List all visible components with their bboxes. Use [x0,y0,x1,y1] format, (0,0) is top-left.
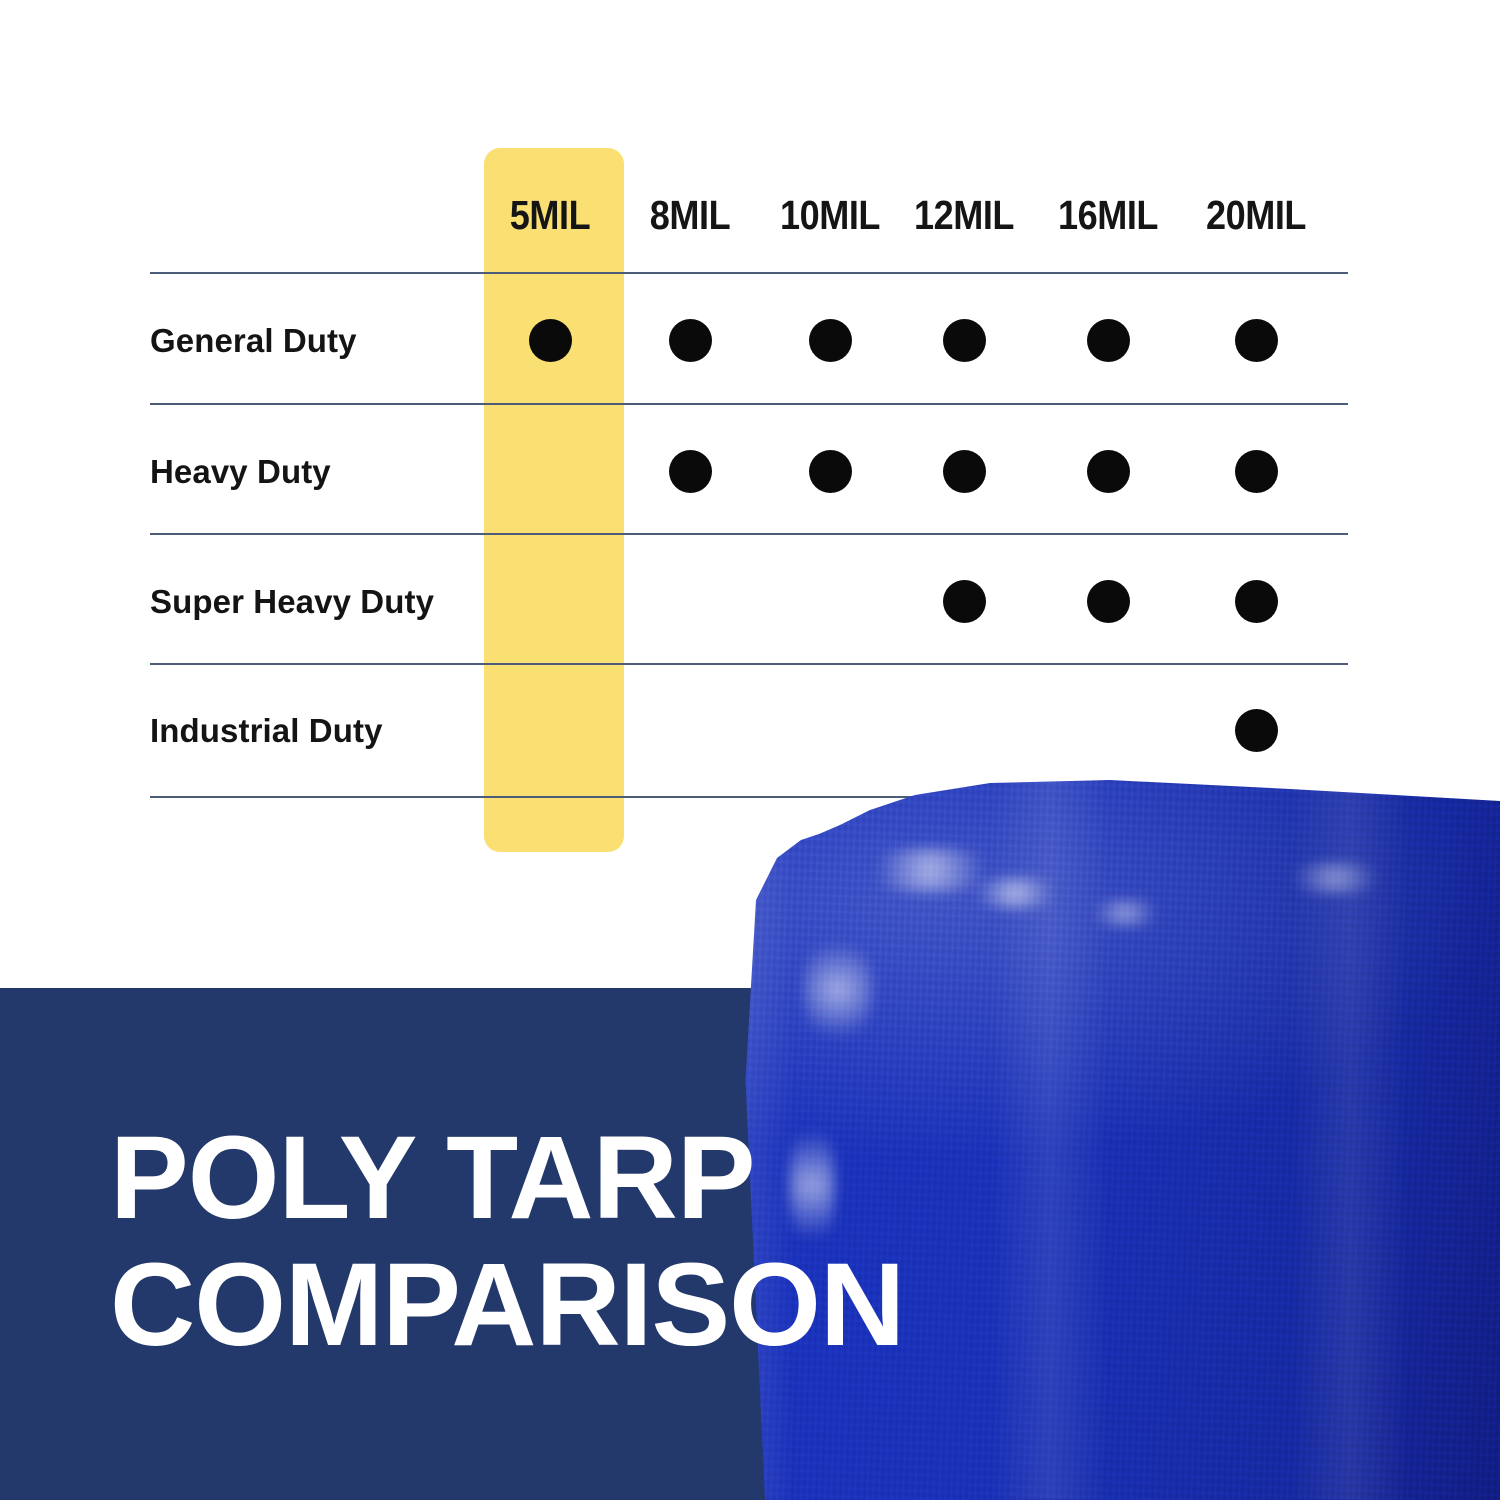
dot-heavy-duty-12mil [943,450,986,493]
column-header-16mil: 16MIL [1036,188,1180,242]
dot-super-heavy-duty-12mil [943,580,986,623]
dot-general-duty-8mil [669,319,712,362]
table-rule-5 [150,796,1348,798]
dot-super-heavy-duty-16mil [1087,580,1130,623]
dot-heavy-duty-8mil [669,450,712,493]
row-label-heavy-duty: Heavy Duty [150,453,331,491]
dot-heavy-duty-20mil [1235,450,1278,493]
column-header-5mil: 5MIL [483,188,617,242]
dot-heavy-duty-10mil [809,450,852,493]
dot-general-duty-10mil [809,319,852,362]
column-header-20mil: 20MIL [1184,188,1328,242]
poster-canvas: 5MIL 8MIL 10MIL 12MIL 16MIL 20MIL Genera… [0,0,1500,1500]
table-rule-4 [150,663,1348,665]
column-header-10mil: 10MIL [758,188,902,242]
row-label-general-duty: General Duty [150,322,357,360]
dot-general-duty-12mil [943,319,986,362]
comparison-table: 5MIL 8MIL 10MIL 12MIL 16MIL 20MIL Genera… [0,0,1500,1000]
dot-industrial-duty-20mil [1235,709,1278,752]
table-rule-3 [150,533,1348,535]
column-header-12mil: 12MIL [892,188,1036,242]
column-header-8mil: 8MIL [623,188,757,242]
highlight-column-5mil [484,148,624,852]
row-label-industrial-duty: Industrial Duty [150,712,383,750]
dot-general-duty-16mil [1087,319,1130,362]
dot-general-duty-5mil [529,319,572,362]
table-rule-2 [150,403,1348,405]
dot-heavy-duty-16mil [1087,450,1130,493]
row-label-super-heavy-duty: Super Heavy Duty [150,583,434,621]
dot-super-heavy-duty-20mil [1235,580,1278,623]
dot-general-duty-20mil [1235,319,1278,362]
title-banner [0,988,1500,1500]
table-rule-1 [150,272,1348,274]
